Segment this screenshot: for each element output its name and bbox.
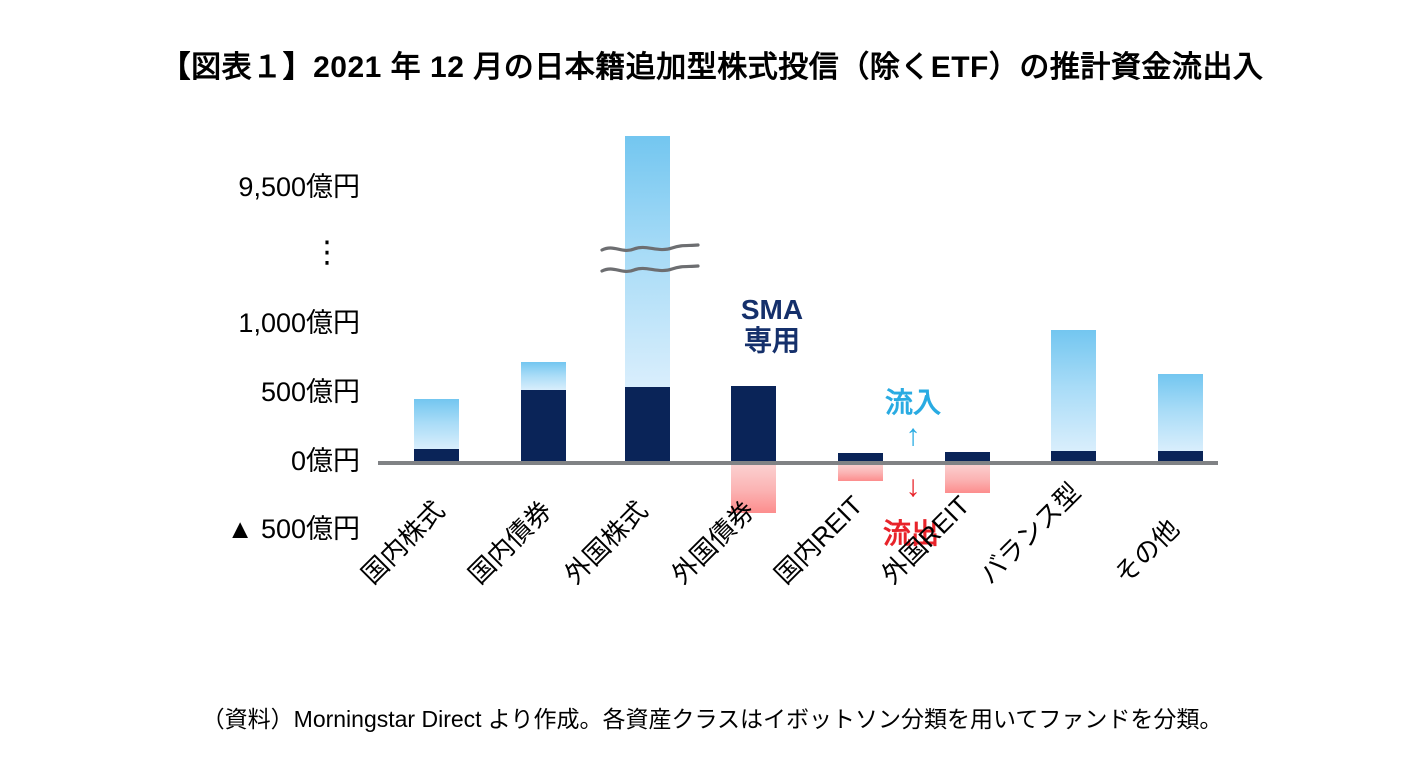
ytick-label-9500: 9,500億円 [238, 174, 360, 201]
zero-axis-line [378, 461, 1218, 465]
bar-light-balanced [1051, 330, 1096, 451]
xlabel-foreign-equity: 外国株式 [560, 496, 652, 588]
annotation-sma-dedicated: SMA 専用 [722, 294, 822, 357]
bar-light-foreign-equity [625, 136, 670, 387]
xlabel-balanced: バランス型 [975, 478, 1085, 588]
bar-light-domestic-bond [521, 362, 566, 390]
ytick-label-ellipsis: ⋮ [312, 238, 342, 268]
annotation-inflow-label: 流入 [860, 381, 966, 421]
arrow-up-icon: ↑ [860, 421, 966, 451]
bar-light-other [1158, 374, 1203, 451]
ytick-label-500: 500億円 [261, 379, 360, 406]
plot-area: 9,500億円 ⋮ 1,000億円 500億円 0億円 ▲ 500億円 [0, 0, 1424, 700]
bar-light-domestic-equity [414, 399, 459, 449]
xlabel-domestic-equity: 国内株式 [357, 496, 449, 588]
xlabel-foreign-bond: 外国債券 [667, 496, 759, 588]
xlabel-other: その他 [1110, 515, 1184, 589]
ytick-label-neg500: ▲ 500億円 [227, 516, 360, 543]
xlabel-domestic-reit: 国内REIT [770, 491, 867, 588]
bar-navy-foreign-equity [625, 387, 670, 462]
bar-navy-domestic-bond [521, 390, 566, 462]
annotation-sma-line1: SMA [722, 294, 822, 325]
bar-navy-foreign-bond [731, 386, 776, 462]
figure-chart: 【図表１】2021 年 12 月の日本籍追加型株式投信（除くETF）の推計資金流… [0, 0, 1424, 783]
ytick-label-0: 0億円 [291, 448, 360, 475]
xlabel-domestic-bond: 国内債券 [464, 496, 556, 588]
annotation-sma-line2: 専用 [722, 325, 822, 356]
source-note: （資料）Morningstar Direct より作成。各資産クラスはイボットソ… [0, 700, 1424, 734]
ytick-label-1000: 1,000億円 [238, 310, 360, 337]
